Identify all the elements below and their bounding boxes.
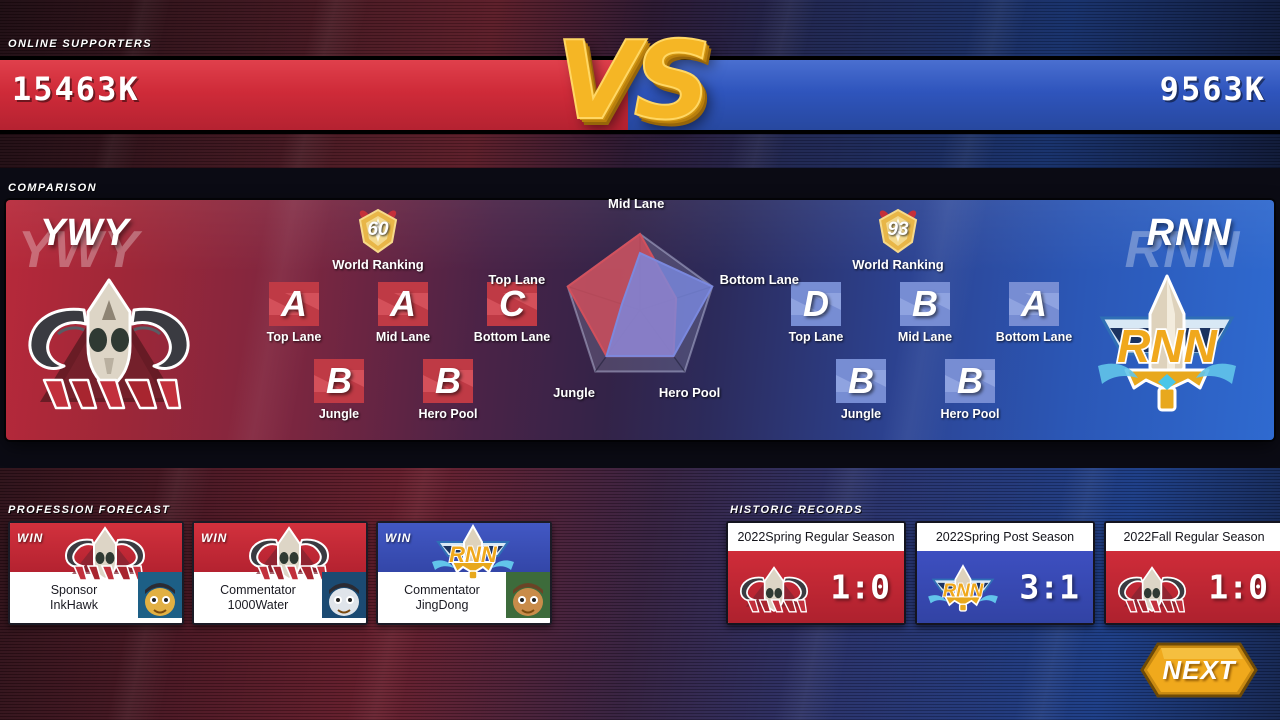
historic-record-card[interactable]: 2022Spring Post SeasonRNN3:1 [915,521,1095,625]
left-world-ranking-value: 60 [352,219,404,241]
grade-item-hero-pool: BHero Pool [926,357,1014,421]
forecast-card-banner: WIN [10,523,182,572]
radar-label-jungle: Jungle [553,385,595,400]
grade-label: Top Lane [250,330,338,344]
grade-value: A [1007,283,1061,325]
historic-winner-logo-icon [734,555,814,621]
online-supporters-label: Online Supporters [8,38,152,50]
forecast-role: Commentator [404,583,480,598]
profession-forecast-list: WINSponsorInkHawkWINCommentator1000Water… [8,521,552,625]
grade-item-bottom-lane: ABottom Lane [990,280,1078,344]
forecast-card[interactable]: WINCommentator1000Water [192,521,368,625]
forecast-name: InkHawk [50,598,98,613]
radar-label-hero-pool: Hero Pool [659,385,720,400]
historic-record-title: 2022Spring Post Season [917,523,1093,551]
left-team-name-text: YWY [40,212,130,254]
svg-text:RNN: RNN [449,542,498,567]
left-world-ranking-label: World Ranking [318,257,438,272]
world-ranking-badge-icon: 60 [352,208,404,254]
grade-badge-icon: B [834,357,888,405]
next-button-label: NEXT [1140,642,1258,698]
forecast-card[interactable]: WINSponsorInkHawk [8,521,184,625]
forecast-win-label: WIN [17,531,43,545]
historic-records-list: 2022Spring Regular Season1:02022Spring P… [726,521,1280,625]
svg-text:RNN: RNN [1117,320,1217,372]
right-grades-row-1: DTop LaneBMid LaneABottom Lane [772,280,1078,344]
grade-label: Mid Lane [881,330,969,344]
historic-record-score: 1:0 [830,568,890,607]
forecast-win-label: WIN [385,531,411,545]
radar-svg [500,212,780,407]
radar-label-bottom-lane: Bottom Lane [720,272,799,287]
grade-item-hero-pool: BHero Pool [404,357,492,421]
left-team-crest-icon [18,262,200,422]
forecast-name: JingDong [416,598,469,613]
comparison-label: Comparison [8,182,97,194]
versus-logo: VS [556,22,736,162]
historic-record-body: 1:0 [1106,551,1280,623]
grade-badge-icon: B [898,280,952,328]
versus-text: VS [556,22,705,142]
grade-badge-icon: D [789,280,843,328]
radar-label-mid-lane: Mid Lane [608,196,664,211]
grade-item-jungle: BJungle [817,357,905,421]
historic-record-card[interactable]: 2022Spring Regular Season1:0 [726,521,906,625]
grade-label: Mid Lane [359,330,447,344]
left-team-name: YWY YWY [40,212,130,255]
grade-badge-icon: A [376,280,430,328]
forecast-card-banner: WINRNN [378,523,550,572]
historic-winner-logo-icon [1112,555,1192,621]
grade-value: B [834,360,888,402]
grade-value: A [376,283,430,325]
grade-item-top-lane: ATop Lane [250,280,338,344]
forecast-avatar [322,572,366,623]
historic-record-body: RNN3:1 [917,551,1093,623]
comparison-radar-chart: Mid Lane Bottom Lane Hero Pool Jungle To… [500,212,780,407]
forecast-name: 1000Water [228,598,289,613]
right-supporters-count: 9563K [1160,70,1266,108]
grade-value: B [943,360,997,402]
grade-value: B [421,360,475,402]
radar-label-top-lane: Top Lane [488,272,545,287]
world-ranking-badge-icon: 93 [872,208,924,254]
grade-label: Bottom Lane [990,330,1078,344]
left-world-ranking: 60 World Ranking [318,208,438,272]
profession-forecast-label: Profession Forecast [8,504,170,516]
historic-record-title: 2022Fall Regular Season [1106,523,1280,551]
historic-record-card[interactable]: 2022Fall Regular Season1:0 [1104,521,1280,625]
right-team-crest-icon: RNN [1076,262,1258,427]
historic-record-title: 2022Spring Regular Season [728,523,904,551]
grade-badge-icon: B [312,357,366,405]
historic-records-label: Historic Records [730,504,863,516]
historic-record-body: 1:0 [728,551,904,623]
forecast-win-label: WIN [201,531,227,545]
grade-label: Top Lane [772,330,860,344]
forecast-card-banner: WIN [194,523,366,572]
right-world-ranking: 93 World Ranking [838,208,958,272]
grade-badge-icon: B [943,357,997,405]
historic-winner-logo-icon: RNN [923,555,1003,621]
left-grades-row-2: BJungleBHero Pool [295,357,492,421]
grade-item-mid-lane: AMid Lane [359,280,447,344]
match-comparison-screen: Online Supporters 15463K 9563K VS Compar… [0,0,1280,720]
grade-label: Hero Pool [404,407,492,421]
grade-item-mid-lane: BMid Lane [881,280,969,344]
grade-label: Hero Pool [926,407,1014,421]
grade-label: Jungle [295,407,383,421]
forecast-role: Commentator [220,583,296,598]
next-button[interactable]: NEXT [1140,642,1258,698]
historic-record-score: 3:1 [1019,568,1079,607]
forecast-avatar [506,572,550,623]
forecast-avatar [138,572,182,623]
right-grades-row-2: BJungleBHero Pool [817,357,1014,421]
grade-item-top-lane: DTop Lane [772,280,860,344]
grade-badge-icon: A [1007,280,1061,328]
right-team-name: RNN RNN [1147,212,1232,255]
grade-label: Jungle [817,407,905,421]
right-team-name-text: RNN [1147,212,1232,254]
right-world-ranking-value: 93 [872,219,924,241]
historic-record-score: 1:0 [1208,568,1268,607]
forecast-role: Sponsor [51,583,98,598]
grade-value: B [312,360,366,402]
grade-value: A [267,283,321,325]
svg-text:RNN: RNN [943,580,984,601]
right-world-ranking-label: World Ranking [838,257,958,272]
grade-badge-icon: A [267,280,321,328]
grade-value: D [789,283,843,325]
grade-badge-icon: B [421,357,475,405]
forecast-card[interactable]: WINRNNCommentatorJingDong [376,521,552,625]
left-supporters-count: 15463K [12,70,140,108]
grade-value: B [898,283,952,325]
grade-item-jungle: BJungle [295,357,383,421]
